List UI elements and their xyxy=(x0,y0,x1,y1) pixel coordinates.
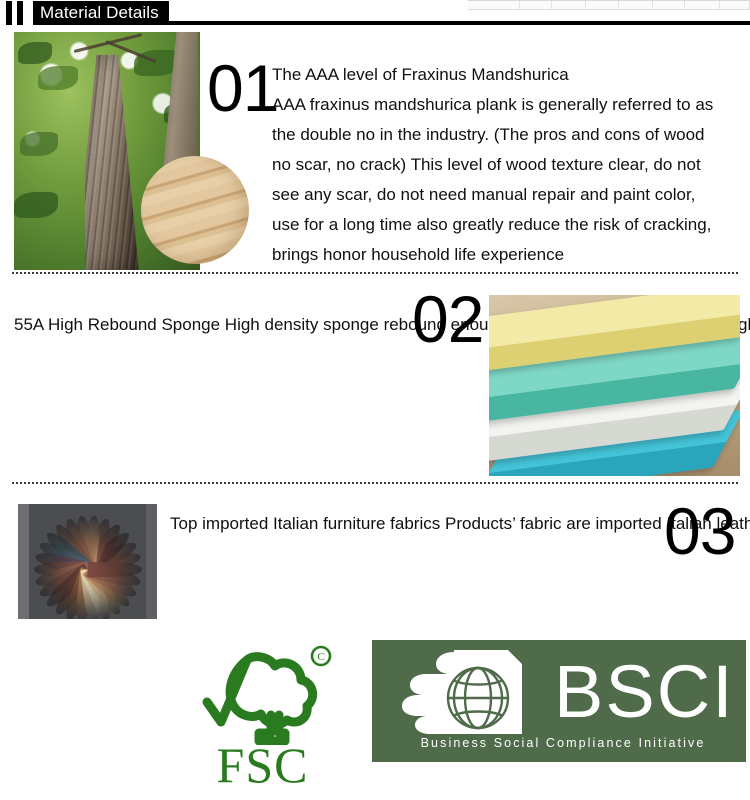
section-01-text: The AAA level of Fraxinus Mandshurica AA… xyxy=(272,60,713,270)
section-number-01: 01 xyxy=(207,55,278,121)
section-01-line-3: no scar, no crack) This level of wood te… xyxy=(272,150,713,180)
section-01-line-1: AAA fraxinus mandshurica plank is genera… xyxy=(272,90,713,120)
bsci-hand-globe-icon xyxy=(396,648,546,736)
section-02-heading: 55A High Rebound Sponge xyxy=(14,315,220,334)
bsci-wordmark: BSCI xyxy=(554,648,735,736)
section-01-line-4: see any scar, do not need manual repair … xyxy=(272,180,713,210)
fsc-tree-checkmark-icon: C xyxy=(185,640,340,745)
header-rule xyxy=(33,21,750,25)
bsci-logo: BSCI Business Social Compliance Initiati… xyxy=(372,640,746,762)
section-01-line-5: use for a long time also greatly reduce … xyxy=(272,210,713,240)
section-03-text: Top imported Italian furniture fabrics P… xyxy=(170,509,750,539)
section-01-heading: The AAA level of Fraxinus Mandshurica xyxy=(272,60,713,90)
section-01-line-6: brings honor household life experience xyxy=(272,240,713,270)
certification-logos: C FSC BSCI Business Social Compliance In… xyxy=(0,628,750,800)
section-material-wood: 01 The AAA level of Fraxinus Mandshurica… xyxy=(0,26,750,278)
fsc-copyright-glyph: C xyxy=(317,651,324,663)
leather-swatch-fan-photo xyxy=(18,504,157,619)
section-number-03: 03 xyxy=(664,498,735,564)
page-header: Material Details xyxy=(0,0,750,26)
section-divider-1 xyxy=(12,272,738,274)
section-03-heading: Top imported Italian furniture fabrics xyxy=(170,514,440,533)
fsc-wordmark: FSC xyxy=(185,740,340,790)
section-01-line-2: the double no in the industry. (The pros… xyxy=(272,120,713,150)
foam-slabs-photo xyxy=(489,295,740,476)
bsci-tagline: Business Social Compliance Initiative xyxy=(396,736,730,750)
fsc-logo: C FSC xyxy=(185,640,340,788)
wood-grain-swatch xyxy=(141,156,249,264)
header-accent-bars-icon xyxy=(6,1,28,25)
section-number-02: 02 xyxy=(412,286,483,352)
section-divider-2 xyxy=(12,482,738,484)
leather-swatch-blade xyxy=(88,562,142,577)
section-material-sponge: 55A High Rebound Sponge High density spo… xyxy=(0,278,750,488)
section-material-fabric: Top imported Italian furniture fabrics P… xyxy=(0,488,750,628)
